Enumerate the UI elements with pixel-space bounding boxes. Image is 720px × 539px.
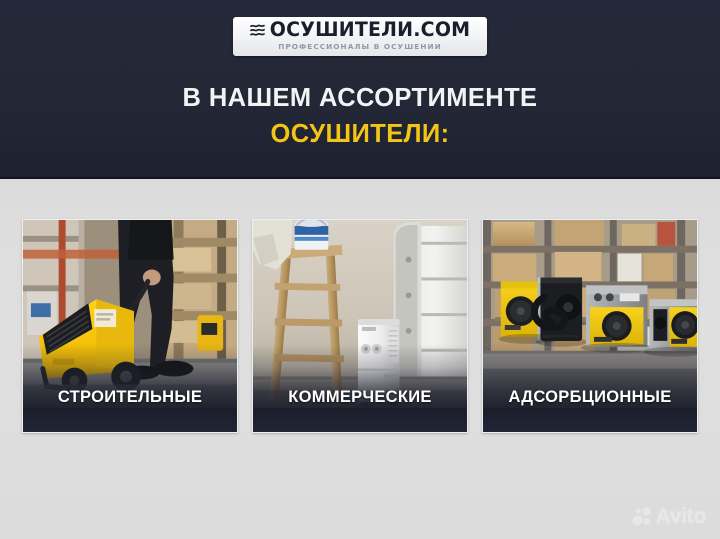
brand-name: ОСУШИТЕЛИ.COM bbox=[270, 21, 471, 41]
ad-banner: ОСУШИТЕЛИ.COM ПРОФЕССИОНАЛЫ В ОСУШЕНИИ В… bbox=[0, 0, 720, 539]
construction-dehumidifier-photo bbox=[23, 220, 237, 432]
commercial-dehumidifier-photo bbox=[253, 220, 467, 432]
card-label-base bbox=[23, 408, 237, 432]
brand-logo-row: ОСУШИТЕЛИ.COM bbox=[250, 21, 471, 40]
category-card-construction[interactable]: СТРОИТЕЛЬНЫЕ bbox=[22, 219, 238, 433]
category-card-adsorption[interactable]: АДСОРБЦИОННЫЕ bbox=[482, 219, 698, 433]
banner-header: ОСУШИТЕЛИ.COM ПРОФЕССИОНАЛЫ В ОСУШЕНИИ В… bbox=[0, 0, 720, 179]
card-label-base bbox=[253, 408, 467, 432]
category-card-commercial[interactable]: КОММЕРЧЕСКИЕ bbox=[252, 219, 468, 433]
adsorption-dehumidifier-photo bbox=[483, 220, 697, 432]
headline-block: В НАШЕМ АССОРТИМЕНТЕ ОСУШИТЕЛИ: bbox=[0, 83, 720, 149]
brand-tagline: ПРОФЕССИОНАЛЫ В ОСУШЕНИИ bbox=[278, 43, 442, 50]
avito-wordmark: Avito bbox=[656, 506, 706, 527]
brand-logo: ОСУШИТЕЛИ.COM ПРОФЕССИОНАЛЫ В ОСУШЕНИИ bbox=[233, 17, 487, 56]
avito-dots-icon bbox=[632, 507, 652, 527]
avito-watermark: Avito bbox=[632, 506, 706, 527]
headline-line-1: В НАШЕМ АССОРТИМЕНТЕ bbox=[0, 83, 720, 113]
category-card-row: СТРОИТЕЛЬНЫЕ bbox=[22, 219, 698, 433]
wave-lines-icon bbox=[250, 24, 265, 37]
headline-line-2: ОСУШИТЕЛИ: bbox=[0, 119, 720, 149]
card-label-base bbox=[483, 408, 697, 432]
